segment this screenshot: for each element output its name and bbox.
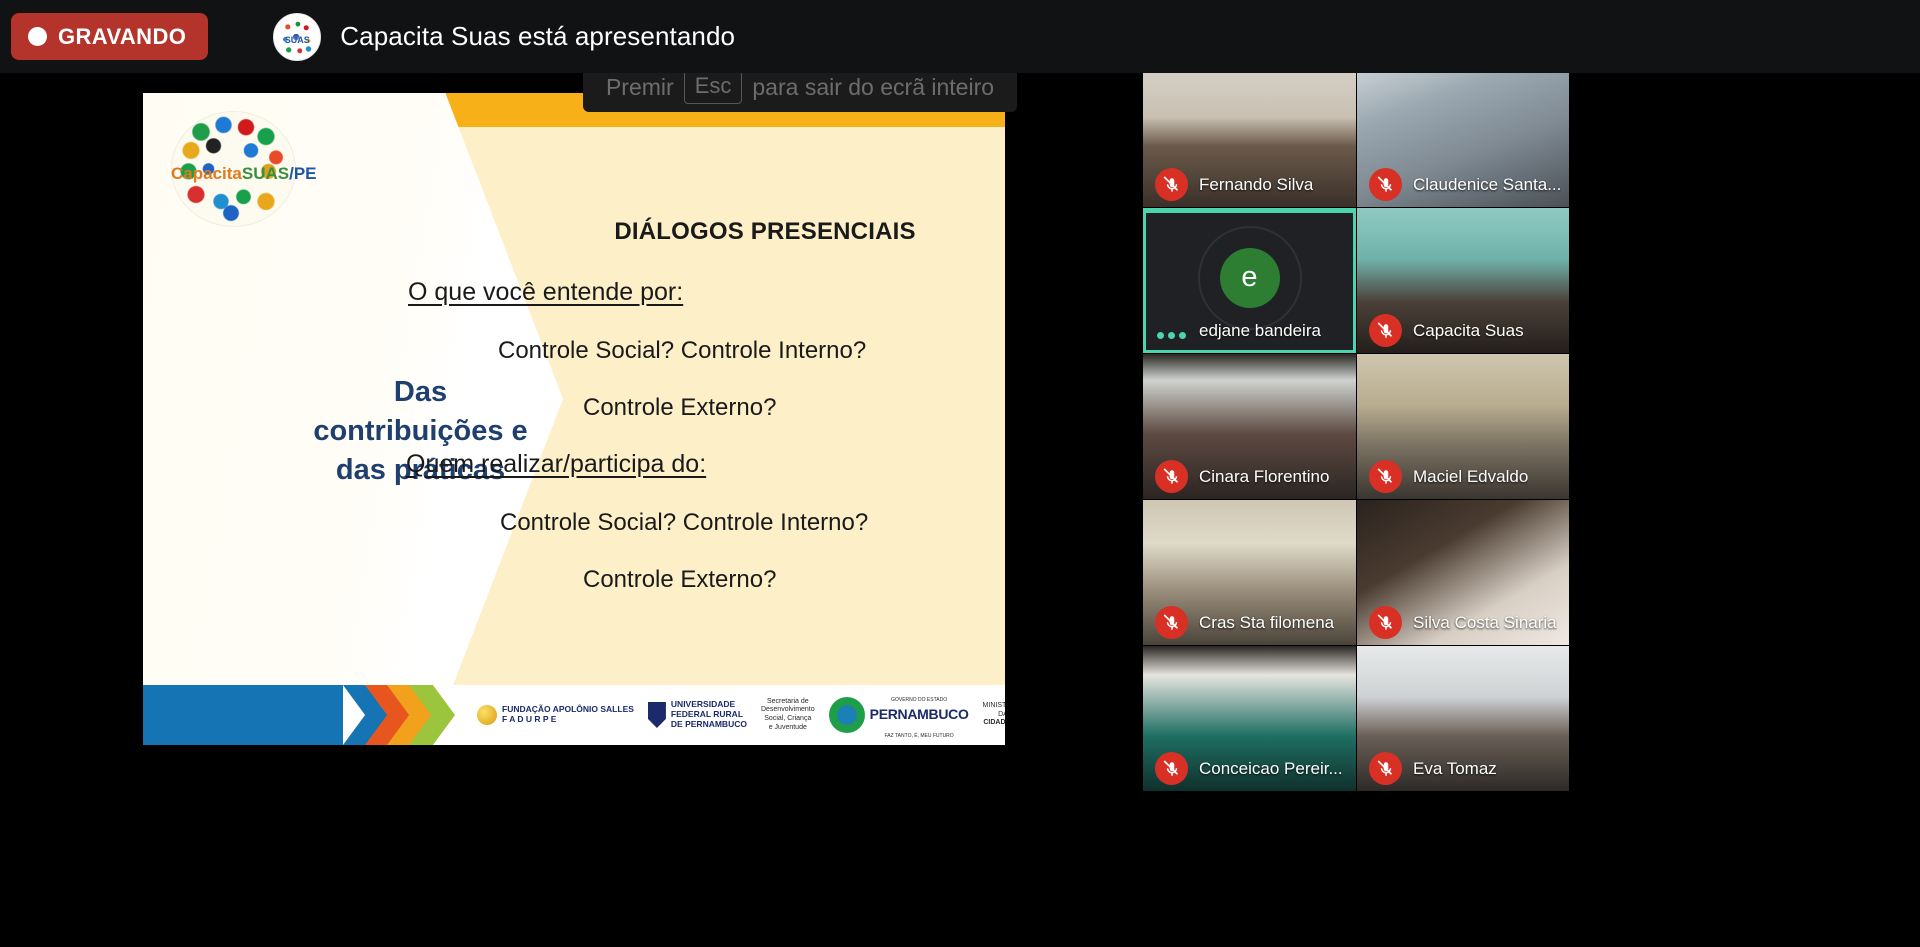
logo-governo-pernambuco: GOVERNO DO ESTADO PERNAMBUCO FAZ TANTO, … xyxy=(829,688,969,742)
capacita-suas-pe-logo-icon: CapacitaSUAS/PE xyxy=(171,111,296,227)
logo-text-part1: Capacita xyxy=(171,164,242,183)
ufrpe-shield-icon xyxy=(648,702,666,728)
mic-muted-icon xyxy=(1155,752,1188,785)
mic-muted-icon xyxy=(1369,752,1402,785)
esc-key: Esc xyxy=(684,70,743,104)
logo-fundacao-apolonio-salles: FUNDAÇÃO APOLÔNIO SALLES F A D U R P E xyxy=(477,705,634,725)
participant-tile[interactable]: eedjane bandeira xyxy=(1143,208,1356,353)
participant-tile[interactable]: Maciel Edvaldo xyxy=(1357,354,1569,499)
logo-sec-line1: Secretaria de xyxy=(767,698,809,705)
participant-name: Fernando Silva xyxy=(1199,175,1313,195)
logo-ministerio-cidadania: MINISTÉRIO DA CIDADANIA xyxy=(983,702,1005,728)
recording-label: GRAVANDO xyxy=(58,24,186,50)
mic-muted-icon xyxy=(1155,606,1188,639)
participant-avatar: e xyxy=(1220,248,1280,308)
logo-pe-line3: FAZ TANTO, É, MEU FUTURO xyxy=(885,733,954,739)
logo-sec-line3: Social, Criança xyxy=(764,715,811,722)
participant-grid: Fernando SilvaClaudenice Santa...eedjane… xyxy=(1143,62,1569,947)
slide: CapacitaSUAS/PE Das contribuições e das … xyxy=(143,93,1005,745)
mic-muted-icon xyxy=(1155,168,1188,201)
top-bar: GRAVANDO Capacita Suas está apresentando xyxy=(0,0,1920,73)
logo-fas-line2: F A D U R P E xyxy=(502,714,556,724)
logo-mc-line2: CIDADANIA xyxy=(983,719,1005,726)
slide-question-2-line-1: Controle Social? Controle Interno? xyxy=(500,509,868,537)
hint-prefix: Premir xyxy=(606,74,674,101)
participant-tile[interactable]: Fernando Silva xyxy=(1143,62,1356,207)
participant-name: edjane bandeira xyxy=(1199,321,1321,341)
presenter-logo-icon xyxy=(273,13,321,61)
speaking-indicator-bar xyxy=(1143,208,1356,213)
participant-name: Maciel Edvaldo xyxy=(1413,467,1528,487)
recording-dot-icon xyxy=(28,27,47,46)
participant-name: Silva Costa Sinaria xyxy=(1413,613,1557,633)
participant-tile[interactable]: Cinara Florentino xyxy=(1143,354,1356,499)
participant-name: Conceicao Pereir... xyxy=(1199,759,1343,779)
mic-muted-icon xyxy=(1369,314,1402,347)
slide-heading: DIÁLOGOS PRESENCIAIS xyxy=(555,218,975,246)
participant-tile[interactable]: Cras Sta filomena xyxy=(1143,500,1356,645)
logo-ufrpe: UNIVERSIDADE FEDERAL RURAL DE PERNAMBUCO xyxy=(648,700,747,729)
slide-question-1-head: O que você entende por: xyxy=(408,278,683,307)
slide-question-1-line-2: Controle Externo? xyxy=(583,394,776,422)
slide-question-1-line-1: Controle Social? Controle Interno? xyxy=(498,337,866,365)
logo-pe-line1: GOVERNO DO ESTADO xyxy=(891,697,947,703)
participant-tile[interactable]: Conceicao Pereir... xyxy=(1143,646,1356,791)
logo-ufrpe-line2: FEDERAL RURAL xyxy=(671,709,743,719)
logo-ufrpe-line3: DE PERNAMBUCO xyxy=(671,719,747,729)
logo-pe-line2: PERNAMBUCO xyxy=(870,706,969,722)
participant-tile[interactable]: Silva Costa Sinaria xyxy=(1357,500,1569,645)
footer-blue-block xyxy=(143,685,343,745)
footer-chevrons-icon xyxy=(343,685,463,745)
mic-muted-icon xyxy=(1369,460,1402,493)
participant-name: Capacita Suas xyxy=(1413,321,1524,341)
apolonio-ball-icon xyxy=(477,705,497,725)
slide-question-2-head: Quem realizar/participa do: xyxy=(406,450,706,479)
presentation-stage[interactable]: CapacitaSUAS/PE Das contribuições e das … xyxy=(0,73,1143,947)
logo-text-part2: SUAS xyxy=(242,164,289,183)
logo-fas-line1: FUNDAÇÃO APOLÔNIO SALLES xyxy=(502,704,634,714)
slide-footer: FUNDAÇÃO APOLÔNIO SALLES F A D U R P E U… xyxy=(143,685,1005,745)
logo-secretaria: Secretaria de Desenvolvimento Social, Cr… xyxy=(761,698,815,733)
participant-name: Cras Sta filomena xyxy=(1199,613,1334,633)
logo-sec-line2: Desenvolvimento xyxy=(761,706,815,713)
presenting-text: Capacita Suas está apresentando xyxy=(340,21,735,52)
mic-muted-icon xyxy=(1369,606,1402,639)
participant-name: Claudenice Santa... xyxy=(1413,175,1561,195)
pernambuco-crest-icon xyxy=(829,697,865,733)
mic-muted-icon xyxy=(1155,460,1188,493)
logo-ufrpe-line1: UNIVERSIDADE xyxy=(671,699,735,709)
hint-suffix: para sair do ecrã inteiro xyxy=(752,74,994,101)
speaking-dots-icon xyxy=(1157,332,1186,339)
participant-name: Cinara Florentino xyxy=(1199,467,1329,487)
slide-question-2-line-2: Controle Externo? xyxy=(583,566,776,594)
participant-tile[interactable]: Capacita Suas xyxy=(1357,208,1569,353)
participant-tile[interactable]: Claudenice Santa... xyxy=(1357,62,1569,207)
participant-tile[interactable]: Eva Tomaz xyxy=(1357,646,1569,791)
logo-sec-line4: e Juventude xyxy=(769,724,807,731)
logo-text-part3: /PE xyxy=(289,164,316,183)
mic-muted-icon xyxy=(1369,168,1402,201)
participant-name: Eva Tomaz xyxy=(1413,759,1497,779)
recording-badge[interactable]: GRAVANDO xyxy=(11,13,208,60)
logo-mc-line1: MINISTÉRIO DA xyxy=(983,702,1005,718)
